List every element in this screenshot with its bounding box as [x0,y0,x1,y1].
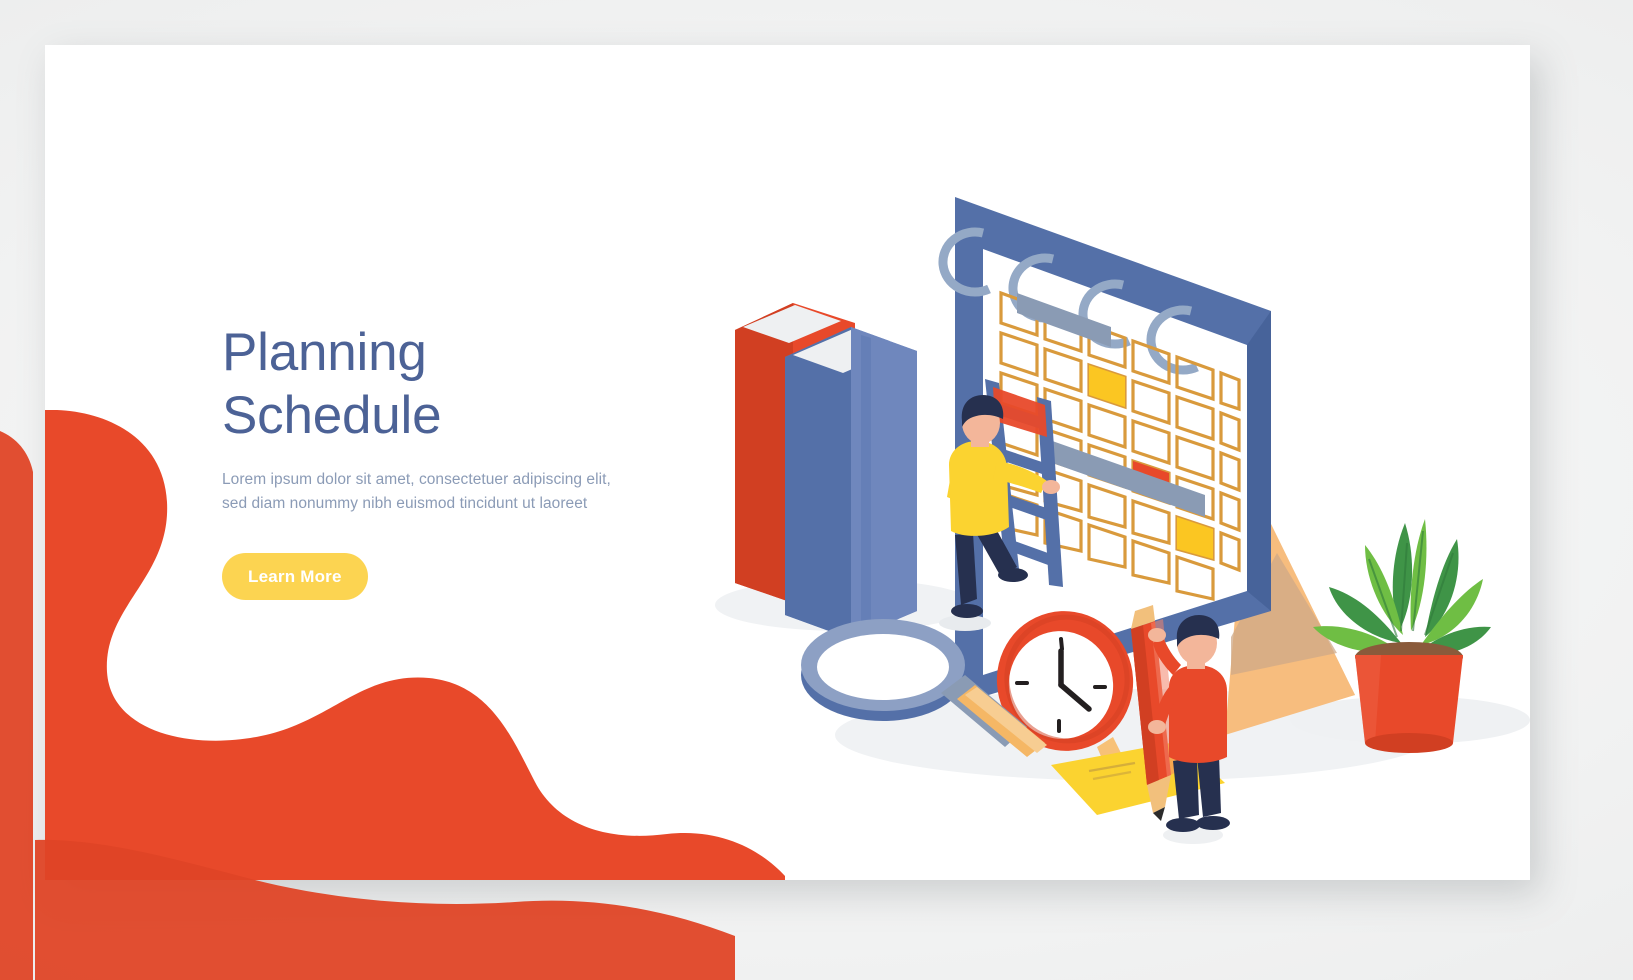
landing-page-card: Planning Schedule Lorem ipsum dolor sit … [45,45,1530,880]
page-title: Planning Schedule [222,321,652,447]
hero-subtext: Lorem ipsum dolor sit amet, consectetuer… [222,468,622,516]
learn-more-button[interactable]: Learn More [222,553,368,600]
hero-text-column: Planning Schedule Lorem ipsum dolor sit … [222,321,652,516]
planning-illustration [665,175,1530,880]
stacked-books-icon [735,303,917,639]
page-background: Planning Schedule Lorem ipsum dolor sit … [0,0,1633,980]
